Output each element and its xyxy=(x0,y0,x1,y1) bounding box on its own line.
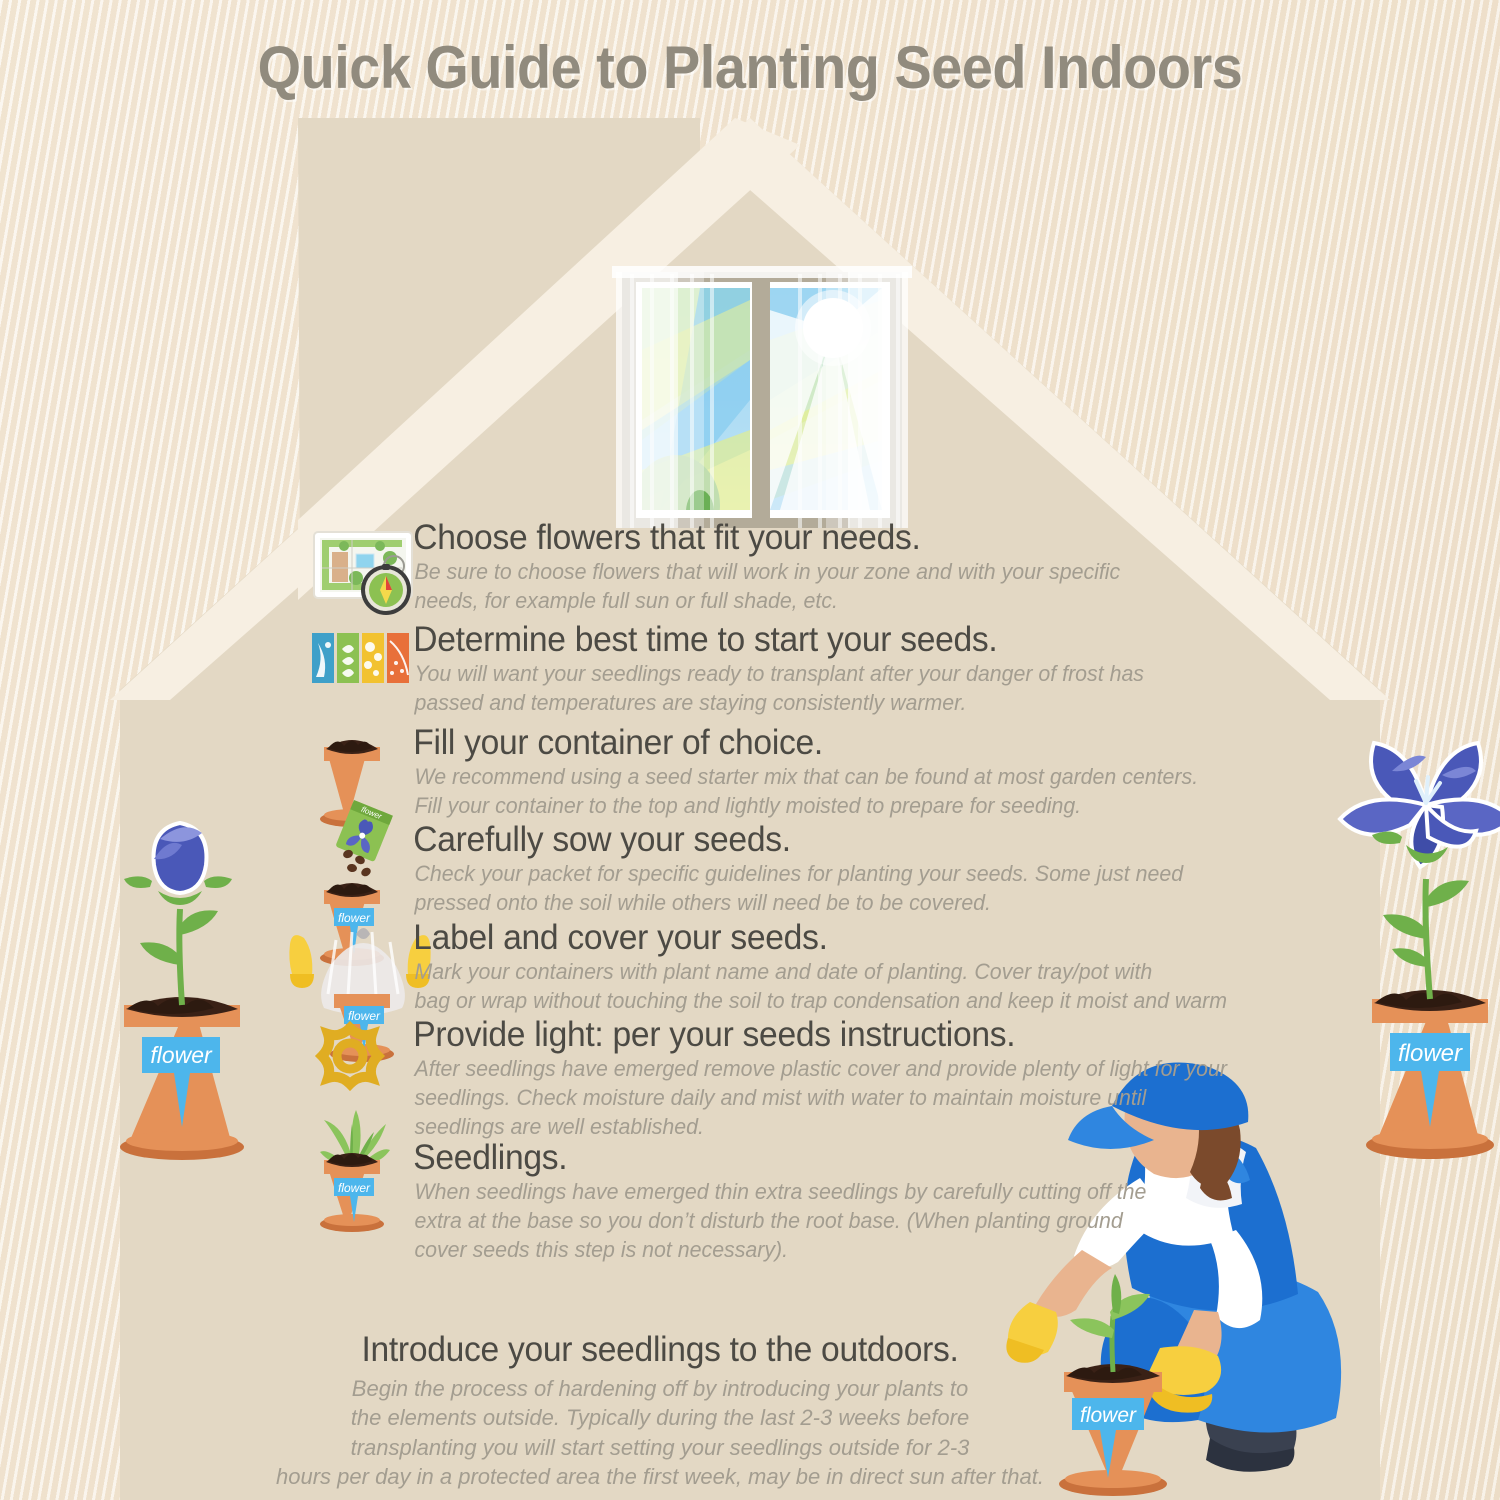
outro-heading: Introduce your seedlings to the outdoors… xyxy=(266,1330,1053,1370)
step-body-line: seedlings. Check moisture daily and mist… xyxy=(414,1084,1231,1113)
step-body-line: seedlings are well established. xyxy=(414,1113,1231,1142)
step-body: Mark your containers with plant name and… xyxy=(300,958,1231,1015)
step-item: Determine best time to start your seeds.… xyxy=(300,622,1260,718)
outro-body-line: hours per day in a protected area the fi… xyxy=(250,1462,1070,1491)
step-item: Choose flowers that fit your needs. Be s… xyxy=(300,520,1260,616)
step-heading: Determine best time to start your seeds. xyxy=(300,622,1222,658)
step-body-line: Be sure to choose flowers that will work… xyxy=(414,558,1231,587)
step-body: Check your packet for specific guideline… xyxy=(300,860,1231,917)
outro-body: Begin the process of hardening off by in… xyxy=(250,1374,1070,1491)
infographic-canvas: Quick Guide to Planting Seed Indoors xyxy=(0,0,1500,1500)
outro-section: Introduce your seedlings to the outdoors… xyxy=(250,1330,1070,1491)
step-heading: Carefully sow your seeds. xyxy=(300,822,1222,858)
step-body: When seedlings have emerged thin extra s… xyxy=(300,1178,1231,1264)
step-heading: Seedlings. xyxy=(300,1140,1222,1176)
step-heading: Provide light: per your seeds instructio… xyxy=(300,1017,1222,1053)
step-item: Provide light: per your seeds instructio… xyxy=(300,1017,1260,1141)
step-body-line: Fill your container to the top and light… xyxy=(414,792,1231,821)
step-body-line: Mark your containers with plant name and… xyxy=(414,958,1231,987)
outro-body-line: the elements outside. Typically during t… xyxy=(250,1403,1070,1432)
step-body: We recommend using a seed starter mix th… xyxy=(300,763,1231,820)
step-body: Be sure to choose flowers that will work… xyxy=(300,558,1231,615)
step-body-line: pressed onto the soil while others will … xyxy=(414,889,1231,918)
step-heading: Fill your container of choice. xyxy=(300,725,1222,761)
step-body-line: cover seeds this step is not necessary). xyxy=(414,1236,1231,1265)
step-body-line: Check your packet for specific guideline… xyxy=(414,860,1231,889)
outro-body-line: transplanting you will start setting you… xyxy=(250,1433,1070,1462)
step-heading: Choose flowers that fit your needs. xyxy=(300,520,1222,556)
step-body: After seedlings have emerged remove plas… xyxy=(300,1055,1231,1141)
step-body: You will want your seedlings ready to tr… xyxy=(300,660,1231,717)
step-body-line: bag or wrap without touching the soil to… xyxy=(414,987,1231,1016)
step-item: Label and cover your seeds. Mark your co… xyxy=(300,920,1260,1016)
step-body-line: You will want your seedlings ready to tr… xyxy=(414,660,1231,689)
step-body-line: needs, for example full sun or full shad… xyxy=(414,587,1231,616)
step-body-line: We recommend using a seed starter mix th… xyxy=(414,763,1231,792)
step-body-line: extra at the base so you don’t disturb t… xyxy=(414,1207,1231,1236)
step-item: Seedlings. When seedlings have emerged t… xyxy=(300,1140,1260,1264)
step-item: Fill your container of choice. We recomm… xyxy=(300,725,1260,821)
outro-body-line: Begin the process of hardening off by in… xyxy=(250,1374,1070,1403)
step-body-line: When seedlings have emerged thin extra s… xyxy=(414,1178,1231,1207)
step-body-line: After seedlings have emerged remove plas… xyxy=(414,1055,1231,1084)
step-heading: Label and cover your seeds. xyxy=(300,920,1222,956)
step-item: Carefully sow your seeds. Check your pac… xyxy=(300,822,1260,918)
step-body-line: passed and temperatures are staying cons… xyxy=(414,689,1231,718)
